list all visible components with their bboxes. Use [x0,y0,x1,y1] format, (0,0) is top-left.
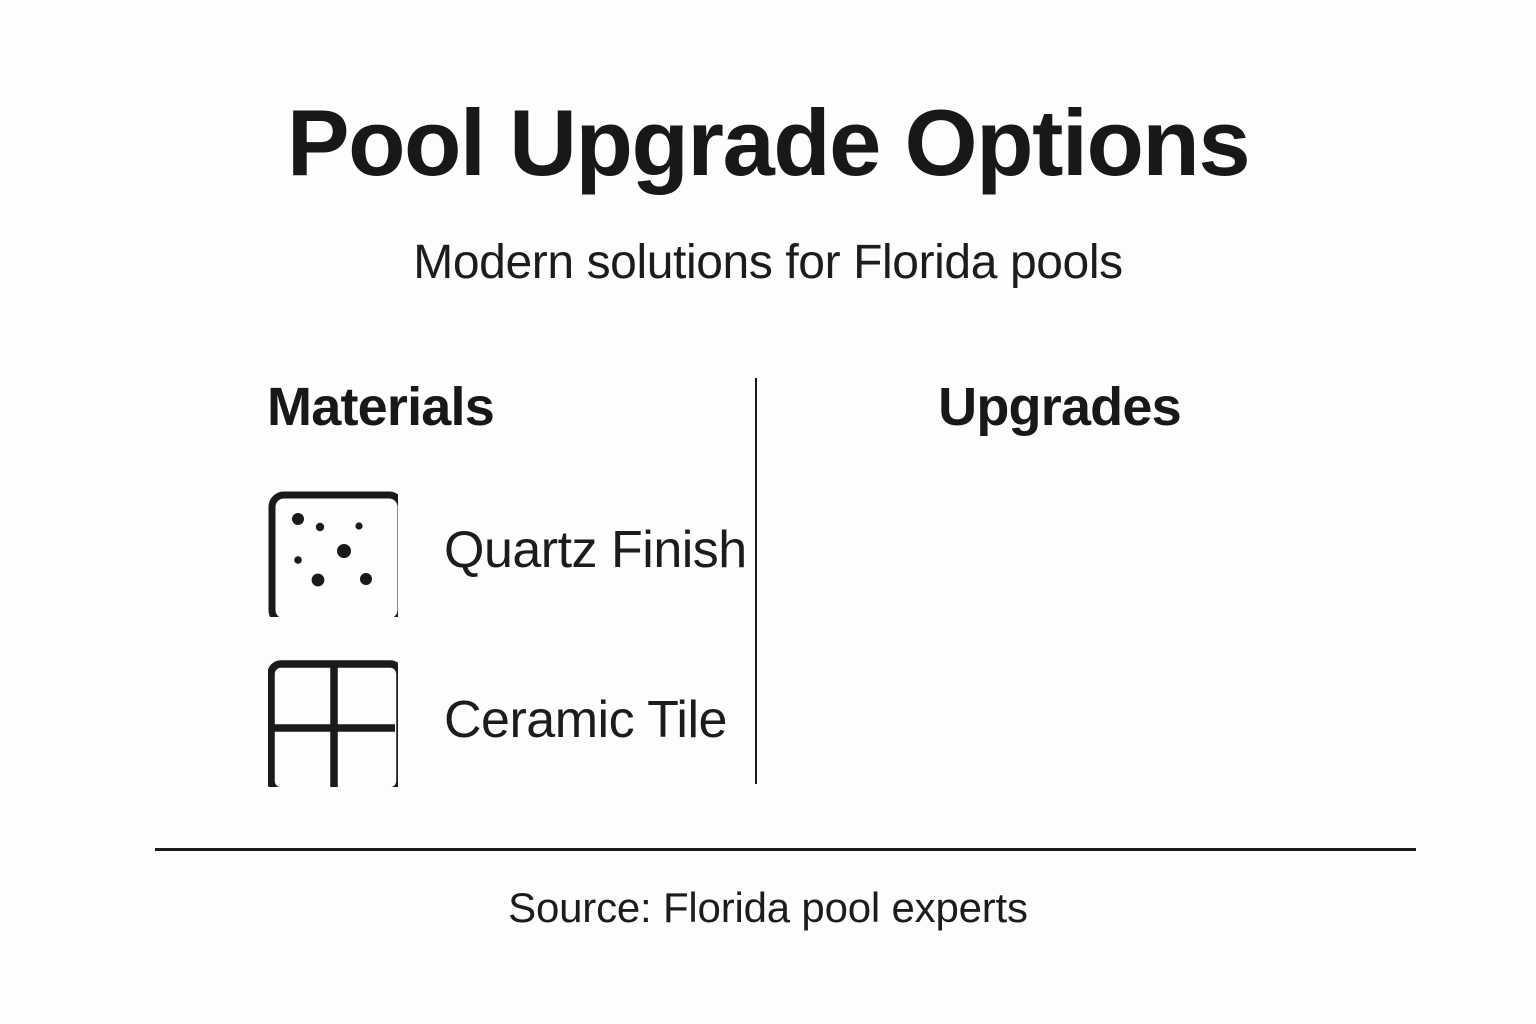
source-note: Source: Florida pool experts [0,884,1536,932]
list-item-label: Quartz Finish [398,524,747,580]
footer-divider [155,848,1416,851]
tile-grid-icon [268,657,398,787]
infographic-page: Pool Upgrade Options Modern solutions fo… [0,0,1536,1024]
column-heading-materials: Materials [113,368,648,434]
column-heading-upgrades: Upgrades [792,368,1327,434]
column-upgrades: Upgrades [782,368,1422,798]
list-item-quartz-finish[interactable]: Quartz Finish [268,487,747,617]
speckled-square-icon [268,487,398,617]
list-item-label: Ceramic Tile [398,694,727,750]
header: Pool Upgrade Options Modern solutions fo… [0,96,1536,287]
list-item-ceramic-tile[interactable]: Ceramic Tile [268,657,727,787]
page-subtitle: Modern solutions for Florida pools [0,190,1536,287]
columns-area: Materials [0,368,1536,798]
page-title: Pool Upgrade Options [0,96,1536,190]
column-materials: Materials [113,368,753,798]
